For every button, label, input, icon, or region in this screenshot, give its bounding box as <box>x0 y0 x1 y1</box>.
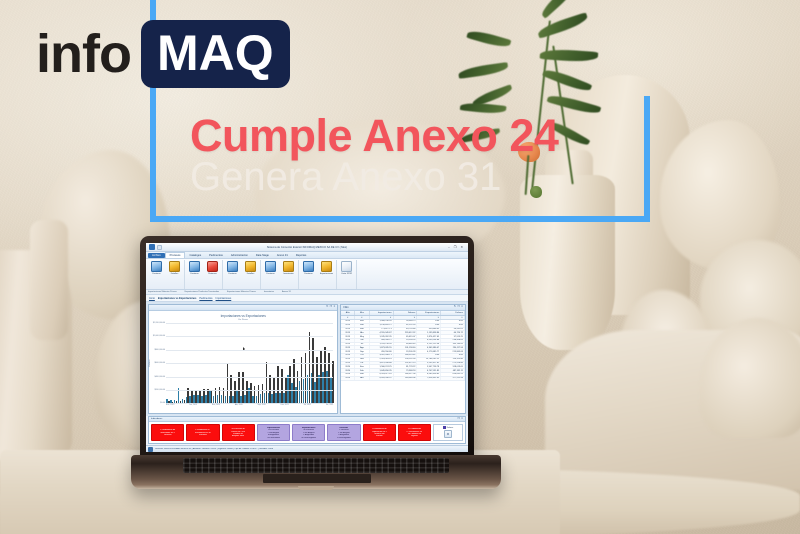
ribbon-group-items: FacturasRetornos <box>187 260 220 289</box>
grid-filter-cell[interactable]: ▼ <box>441 316 465 319</box>
grid-column-header[interactable]: Dolares <box>441 311 465 315</box>
ribbon-button-facturas[interactable]: Facturas <box>187 261 202 275</box>
logo-maq-text: MAQ <box>157 28 274 78</box>
workspace: ⇱ ❐ ✕ Importaciones vs Exportaciones En … <box>146 302 468 416</box>
table-cell: 23,209.28 <box>394 350 418 353</box>
status-text: Licencia: 9980-9XXG-6A81-4098-4C95 | Alm… <box>155 448 273 450</box>
table-cell: 23,230.95 <box>394 339 418 342</box>
chart-x-tick-label: Abr, 2020 <box>235 404 243 406</box>
table-cell: 65,619.07 <box>394 335 418 338</box>
indicator-tile-5[interactable]: Retornos1 Facturas1 Sin Asignar0 Asignad… <box>327 424 360 441</box>
table-cell: 2019 <box>341 362 355 365</box>
table-cell: 773,627.73 <box>370 328 394 331</box>
table-cell: Ene <box>355 365 370 368</box>
ribbon-group: FacturasExportaciones <box>299 260 337 289</box>
legend-row: Dolares <box>443 426 454 429</box>
table-cell: 5,232,417.61 <box>417 362 441 365</box>
table-cell: 704,315.80 <box>441 358 465 361</box>
ribbon-group: FacturasInventarios <box>261 260 299 289</box>
application-window: Sistema de Comercio Exterior INFOMAQ MEX… <box>146 243 468 452</box>
chart-plot-area: $1,200,000.00$1,000,000.00$800,000.00$60… <box>166 323 333 403</box>
ribbon-tab-data-stage[interactable]: Data Stage <box>252 253 273 258</box>
grid-body[interactable]: 2019Ene1,044,706.2054,960.750.000.002019… <box>341 320 465 413</box>
laptop-keyboard <box>183 458 449 473</box>
table-cell: Feb <box>355 324 370 327</box>
table-cell: 0.00 <box>417 320 441 323</box>
laptop-lid: Sistema de Comercio Exterior INFOMAQ MEX… <box>140 236 474 460</box>
ribbon-group-items: FacturasExportaciones <box>301 260 334 289</box>
table-cell: 2019 <box>341 346 355 349</box>
table-cell: 1,044,706.20 <box>370 320 394 323</box>
table-cell: 54,960.75 <box>394 320 418 323</box>
table-cell: 6,707,531.85 <box>417 369 441 372</box>
ribbon-tab-catalogos[interactable]: Catalogos <box>185 253 205 258</box>
table-cell: 4,353,077.16 <box>370 373 394 376</box>
table-cell: 1,566,274.25 <box>370 365 394 368</box>
chart-y-tick-label: $800,000.00 <box>150 349 165 351</box>
grid-column-header[interactable]: Año <box>341 311 355 315</box>
indicator-tile-2[interactable]: 98 Facturas dePartes sin CFDIPartidas si… <box>222 424 255 441</box>
ribbon-button-inventarios[interactable]: Inventarios <box>281 261 296 275</box>
table-cell: 0.00 <box>417 354 441 357</box>
ribbon-group-items: FacturasDetalles <box>225 260 258 289</box>
table-cell: Jun <box>355 339 370 342</box>
chart-panel: ⇱ ❐ ✕ Importaciones vs Exportaciones En … <box>148 304 338 414</box>
grid-panel-title: Filtro <box>343 307 348 309</box>
table-cell: 168,525.62 <box>394 354 418 357</box>
table-cell: 1,150,620.72 <box>370 324 394 327</box>
legend-label: Dolares <box>447 427 454 429</box>
paper-roll-small <box>30 220 68 340</box>
table-cell: 2020 <box>341 377 355 380</box>
chart-area: Importaciones vs Exportaciones En Pesos … <box>149 311 337 413</box>
table-cell: Abr <box>355 377 370 380</box>
chart-y-tick-label: $1,000,000.00 <box>150 335 165 337</box>
grid-close-button[interactable]: ✕ <box>461 306 463 308</box>
chart-x-tick-label: Sep, 2020 <box>258 404 266 406</box>
table-cell: 158,132.03 <box>394 358 418 361</box>
table-cell: 2019 <box>341 350 355 353</box>
breadcrumb-item-3[interactable]: Importaciones <box>216 297 232 300</box>
table-cell: Mar <box>355 328 370 331</box>
grid-column-header[interactable]: Dolares <box>394 311 418 315</box>
chart-bar-exportaciones <box>332 361 334 404</box>
chart-y-tick-label: $400,000.00 <box>150 376 165 378</box>
indicator-tile-line: 0 Descargadas <box>337 437 350 439</box>
table-cell: 81,778.22 <box>394 365 418 368</box>
headline-secondary: Genera Anexo 31 <box>190 155 558 199</box>
window-titlebar: Sistema de Comercio Exterior INFOMAQ MEX… <box>146 243 468 252</box>
chart-y-tick-label: $1,200,000.00 <box>150 322 165 324</box>
chart-x-tick-label: Feb, 2021 <box>281 404 289 406</box>
brand-logo: info MAQ <box>36 20 290 88</box>
chart-pin-button[interactable]: ⇱ <box>326 306 328 308</box>
table-cell: 60,724.72 <box>441 331 465 334</box>
breadcrumb-item-2[interactable]: Pedimentos <box>199 297 212 300</box>
chart-title: Importaciones vs Exportaciones <box>151 314 335 318</box>
laptop-trackpad <box>263 474 371 483</box>
data-grid-panel: Filtro ⇱ ❐ ✕ AñoMesImportacionesDolaresE… <box>340 304 466 414</box>
frame-line-horizontal <box>150 216 650 222</box>
chart-gridline <box>166 377 333 378</box>
table-cell: 959,666.05 <box>417 328 441 331</box>
chart-y-tick-label: $600,000.00 <box>150 362 165 364</box>
table-cell: 0.00 <box>441 320 465 323</box>
frame-line-vertical-right <box>644 96 650 222</box>
invoice-blue-icon <box>303 261 314 272</box>
table-cell: 3,675,208.88 <box>370 362 394 365</box>
ribbon-tab-procesos[interactable]: Procesos <box>165 252 186 258</box>
chart-gridline <box>166 390 333 391</box>
indicators-restore-button[interactable]: ❐ <box>457 418 459 420</box>
table-cell: 40,795.88 <box>394 328 418 331</box>
ribbon-group-items: FacturasDetalles <box>149 260 182 289</box>
breadcrumb: InicioImportaciones vs ExportacionesPedi… <box>146 295 468 302</box>
ribbon-button-label: Facturas <box>152 273 160 275</box>
indicator-tile-line: Facturas <box>199 434 207 436</box>
inventory-gold-icon <box>283 261 294 272</box>
document-icon <box>341 261 352 272</box>
table-cell: 459,556.80 <box>370 350 394 353</box>
chart-gridline <box>166 323 333 324</box>
ribbon-button-facturas[interactable]: Facturas <box>263 261 278 275</box>
ribbon-group-items: Carta 31/32 <box>339 260 354 289</box>
table-cell: Ene <box>355 320 370 323</box>
table-cell: Sep <box>355 350 370 353</box>
table-cell: Feb <box>355 369 370 372</box>
table-row[interactable]: 2020Abr4,455,556.37180,989.067,626,331.4… <box>341 377 465 381</box>
ribbon-tabbar: ArchivoProcesosCatalogosPedimentosAdmini… <box>146 252 468 259</box>
table-cell: 0.00 <box>441 354 465 357</box>
table-cell: 192,071.13 <box>394 362 418 365</box>
window-title: Sistema de Comercio Exterior INFOMAQ MEX… <box>146 246 468 249</box>
grid-column-header[interactable]: Mes <box>355 311 370 315</box>
table-cell: 1,874,427.65 <box>417 335 441 338</box>
laptop-screen: Sistema de Comercio Exterior INFOMAQ MEX… <box>146 243 468 452</box>
table-cell: 377,251.98 <box>441 377 465 380</box>
indicator-tile-3[interactable]: Importaciones249 Facturas2 Sin Asignar8 … <box>257 424 290 441</box>
ribbon-button-label: Facturas <box>190 273 198 275</box>
table-cell: 4,362,486.07 <box>417 346 441 349</box>
table-cell: 2019 <box>341 339 355 342</box>
ribbon-button-facturas[interactable]: Facturas <box>301 261 316 275</box>
table-cell: 2020 <box>341 373 355 376</box>
table-cell: 7,626,331.45 <box>417 377 441 380</box>
chart-x-tick-label: Jun, 2019 <box>189 404 197 406</box>
table-cell: 1,245,262.35 <box>370 335 394 338</box>
ribbon-group-caption: Anexo 31 <box>282 291 291 293</box>
grid-panel-buttons: ⇱ ❐ ✕ <box>454 306 463 308</box>
export-gold-icon <box>321 261 332 272</box>
chart-x-tick-label: Jul, 2021 <box>304 404 311 406</box>
chart-close-button[interactable]: ✕ <box>333 306 335 308</box>
indicator-tile-6[interactable]: 1 Pedimentos deExportacion En 5Facturas … <box>363 424 396 441</box>
table-cell: Jul <box>355 343 370 346</box>
table-cell: 0.00 <box>441 324 465 327</box>
table-cell: 2019 <box>341 354 355 357</box>
ribbon-button-facturas[interactable]: Facturas <box>225 261 240 275</box>
ribbon-button-label: Exportaciones <box>320 273 333 275</box>
invoice-blue-icon <box>151 261 162 272</box>
table-cell: 449,598.72 <box>370 339 394 342</box>
status-bar: Licencia: 9980-9XXG-6A81-4098-4C95 | Alm… <box>146 445 468 452</box>
table-cell: 97,919.25 <box>441 335 465 338</box>
table-cell: 1,649,656.35 <box>370 369 394 372</box>
chart-x-tick-label: Dic, 2021 <box>326 404 334 406</box>
table-cell: 2,993,563.41 <box>370 358 394 361</box>
table-cell: 2019 <box>341 328 355 331</box>
ribbon-tab-reportes[interactable]: Reportes <box>292 253 311 258</box>
detail-gold-icon <box>169 261 180 272</box>
table-cell: 3,287,208.71 <box>370 354 394 357</box>
table-cell: 2019 <box>341 343 355 346</box>
table-cell: Mar <box>355 373 370 376</box>
invoice-blue-icon <box>227 261 238 272</box>
ribbon-tab-pedimentos[interactable]: Pedimentos <box>205 253 227 258</box>
table-cell: 318,013.05 <box>441 365 465 368</box>
grid-pin-button[interactable]: ⇱ <box>454 306 456 308</box>
return-arrow-icon <box>207 261 218 272</box>
table-cell: 64,489.85 <box>394 343 418 346</box>
table-cell: Ago <box>355 346 370 349</box>
indicators-legend: Dolares ⚙ <box>433 424 463 441</box>
chart-subtitle: En Pesos <box>151 319 335 321</box>
table-cell: 50,261.01 <box>441 328 465 331</box>
breadcrumb-item-0[interactable]: Inicio <box>149 297 155 300</box>
chart-x-tick-label: Ene, 2019 <box>166 404 174 406</box>
table-cell: 79,968.53 <box>394 369 418 372</box>
ribbon-button-label: Facturas <box>228 273 236 275</box>
ribbon-button-carta-31/32[interactable]: Carta 31/32 <box>339 261 354 275</box>
ribbon-button-label: Facturas <box>304 273 312 275</box>
table-cell: 4,530,134.86 <box>417 339 441 342</box>
ribbon-button-retornos[interactable]: Retornos <box>205 261 220 275</box>
ribbon-group-caption: Importaciones Materias Primas <box>148 291 177 293</box>
detail-gold-icon <box>245 261 256 272</box>
table-cell: 6,582,656.85 <box>417 373 441 376</box>
indicator-tile-line: 40 Descargadas <box>301 437 316 439</box>
ribbon-group: FacturasDetalles <box>223 260 261 289</box>
ribbon-button-detalles[interactable]: Detalles <box>167 261 182 275</box>
table-cell: 2019 <box>341 358 355 361</box>
table-cell: 487,332.11 <box>441 369 465 372</box>
chart-panel-buttons: ⇱ ❐ ✕ <box>326 306 335 308</box>
headline-primary: Cumple Anexo 24 <box>190 112 558 159</box>
grid-filter-cell[interactable]: ▼ <box>394 316 418 319</box>
ribbon-button-label: Facturas <box>266 273 274 275</box>
ribbon-button-exportaciones[interactable]: Exportaciones <box>319 261 334 275</box>
chart-y-tick-label: $0.00 <box>150 402 165 404</box>
table-cell: 5,947,758.78 <box>417 365 441 368</box>
table-cell: 410,632.51 <box>441 373 465 376</box>
ribbon-button-label: Detalles <box>247 273 255 275</box>
table-cell: 238,908.05 <box>441 339 465 342</box>
table-cell: 1,224,758.26 <box>370 343 394 346</box>
grid-filter-cell[interactable]: ▼ <box>370 316 394 319</box>
indicator-tile-0[interactable]: 2 Pedimentos deInventarios En 2Facturas <box>151 424 184 441</box>
legend-swatch-icon <box>443 426 446 429</box>
table-cell: 3,151,222.98 <box>417 343 441 346</box>
grid-column-header[interactable]: Importaciones <box>370 311 394 315</box>
ribbon-tab-archivo[interactable]: Archivo <box>148 253 165 258</box>
table-cell: 4,555,949.87 <box>370 331 394 334</box>
grid-restore-button[interactable]: ❐ <box>457 306 459 308</box>
invoice-blue-icon <box>189 261 200 272</box>
chart-gridline <box>166 363 333 364</box>
ribbon-button-label: Carta 31/32 <box>341 273 352 275</box>
table-cell: Dic <box>355 362 370 365</box>
table-cell: 215,865.63 <box>441 350 465 353</box>
indicator-tile-line: relacion <box>376 435 383 437</box>
table-cell: 272,916.60 <box>441 362 465 365</box>
table-cell: 186,917.98 <box>394 373 418 376</box>
ribbon-button-facturas[interactable]: Facturas <box>149 261 164 275</box>
grid-filter-cell[interactable]: ▼ <box>417 316 441 319</box>
ribbon-button-detalles[interactable]: Detalles <box>243 261 258 275</box>
invoice-blue-icon <box>265 261 276 272</box>
table-cell: 62,251.18 <box>394 324 418 327</box>
table-cell: 230,117.94 <box>441 346 465 349</box>
indicator-tile-line: 239 Inventarios <box>267 437 281 439</box>
indicator-tile-line: registro <box>411 435 418 437</box>
logo-maq-badge: MAQ <box>141 20 290 88</box>
chart-restore-button[interactable]: ❐ <box>330 306 332 308</box>
chart-gridline <box>166 336 333 337</box>
ribbon-button-label: Detalles <box>171 273 179 275</box>
indicator-tile-4[interactable]: Exportaciones40 Facturas0 Sin Asignar1 A… <box>292 424 325 441</box>
grid-filter-cell[interactable]: ▼ <box>355 316 370 319</box>
license-icon <box>148 447 153 452</box>
table-cell: 165,789.81 <box>441 343 465 346</box>
settings-gear-icon[interactable]: ⚙ <box>444 430 452 438</box>
logo-info-text: info <box>36 27 131 81</box>
headline-block: Cumple Anexo 24 Genera Anexo 31 <box>190 112 558 199</box>
table-cell: Nov <box>355 358 370 361</box>
table-cell: Oct <box>355 354 370 357</box>
table-cell: 4,173,685.77 <box>417 350 441 353</box>
table-cell: 2020 <box>341 369 355 372</box>
table-cell: 180,989.06 <box>394 377 418 380</box>
chart-gridline <box>166 350 333 351</box>
ribbon-toolbar: FacturasDetallesFacturasRetornosFacturas… <box>146 259 468 290</box>
chart-x-tick-label: Nov, 2019 <box>212 404 220 406</box>
indicators-title: Indicadores <box>151 418 162 420</box>
table-cell: 2019 <box>341 331 355 334</box>
ribbon-button-label: Inventarios <box>283 273 293 275</box>
table-cell: 1,873,035.55 <box>370 346 394 349</box>
indicator-tile-line: Bloques Serie <box>232 435 244 437</box>
grid-filter-cell[interactable]: ▼ <box>341 316 355 319</box>
table-cell: 2020 <box>341 365 355 368</box>
table-cell: 4,455,556.37 <box>370 377 394 380</box>
indicators-close-button[interactable]: ✕ <box>461 418 463 420</box>
laptop-mockup: Sistema de Comercio Exterior INFOMAQ MEX… <box>131 236 501 504</box>
ribbon-tab-anexo-31[interactable]: Anexo 31 <box>273 253 292 258</box>
table-cell: 2019 <box>341 324 355 327</box>
ribbon-tab-administracion[interactable]: Administracion <box>227 253 252 258</box>
table-cell: May <box>355 335 370 338</box>
indicator-tiles: 2 Pedimentos deInventarios En 2Facturas4… <box>149 422 465 443</box>
ribbon-group: FacturasRetornos <box>185 260 223 289</box>
indicators-buttons: ❐ ✕ <box>457 418 463 420</box>
ribbon-group: FacturasDetalles <box>147 260 185 289</box>
indicator-tile-line: Facturas <box>164 434 172 436</box>
chart-x-axis: Ene, 2019Jun, 2019Nov, 2019Abr, 2020Sep,… <box>166 404 333 411</box>
table-cell: Abr <box>355 331 370 334</box>
chart-y-tick-label: $200,000.00 <box>150 389 165 391</box>
table-cell: 13,786,242.22 <box>417 358 441 361</box>
table-cell: 239,612.32 <box>394 331 418 334</box>
indicator-tile-7[interactable]: 11 Pedimentos27 Inventarios Sin38 Partid… <box>398 424 431 441</box>
table-cell: 1,135,898.86 <box>417 331 441 334</box>
ribbon-group-caption: Inventarios <box>264 291 274 293</box>
table-cell: 101,158.60 <box>394 346 418 349</box>
ribbon-group-caption: Exportaciones Materias Primas <box>227 291 256 293</box>
laptop-front-notch <box>298 486 334 490</box>
breadcrumb-item-1: Importaciones vs Exportaciones <box>158 297 197 300</box>
grid-column-header[interactable]: Exportaciones <box>417 311 441 315</box>
table-cell: 2019 <box>341 320 355 323</box>
table-cell: 2019 <box>341 335 355 338</box>
ribbon-group-caption: Exportaciones Productos Terminados <box>185 291 219 293</box>
indicators-panel: Indicadores ❐ ✕ 2 Pedimentos deInventari… <box>148 416 466 444</box>
indicator-tile-1[interactable]: 4 Pedimentos V5Inventarios En 38Facturas <box>186 424 219 441</box>
ribbon-button-label: Retornos <box>208 273 216 275</box>
ribbon-group-items: FacturasInventarios <box>263 260 296 289</box>
table-cell: 0.00 <box>417 324 441 327</box>
ribbon-group: Carta 31/32 <box>337 260 357 289</box>
